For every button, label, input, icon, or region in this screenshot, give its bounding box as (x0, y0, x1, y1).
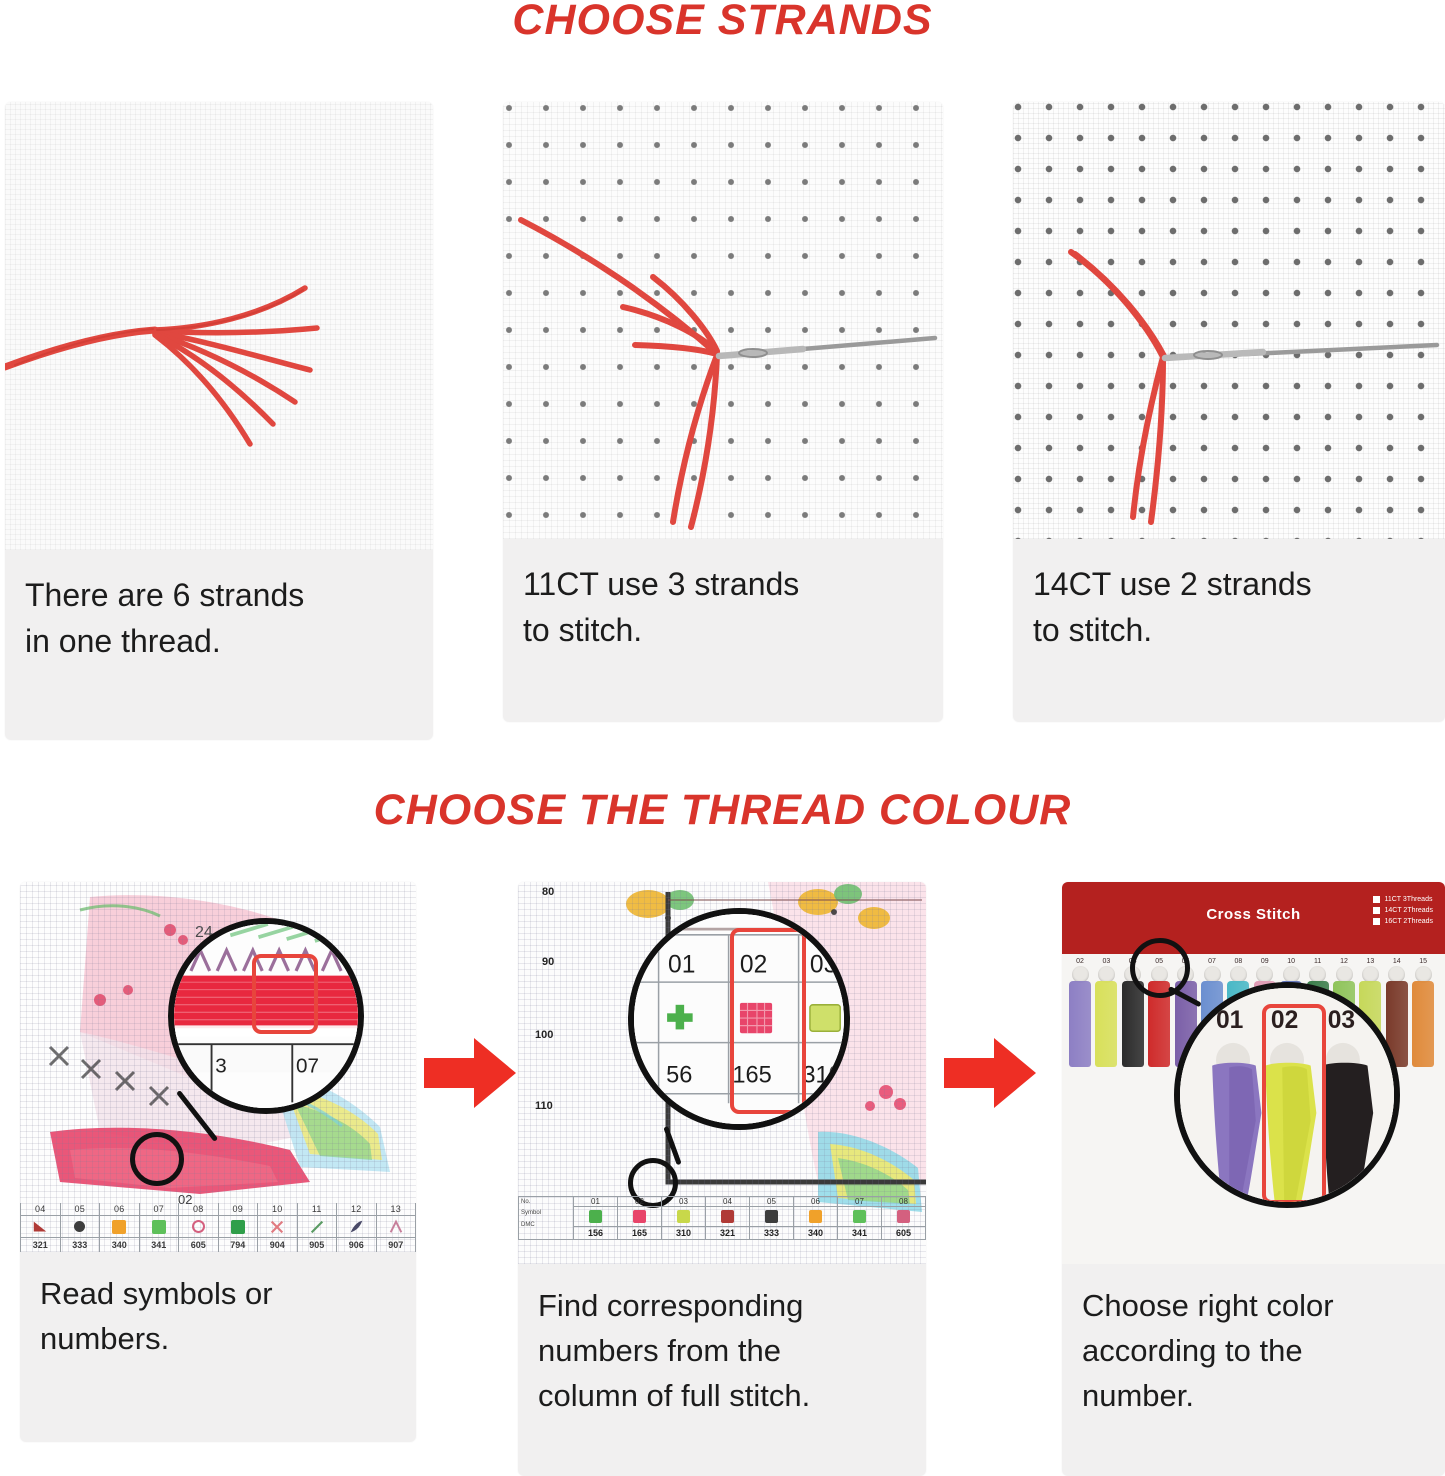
orange-square-icon (100, 1216, 139, 1238)
infographic-page: CHOOSE STRANDS (0, 0, 1445, 1476)
svg-text:07: 07 (296, 1054, 319, 1077)
caption-line: in one thread. (25, 618, 413, 664)
legend-row-header: No. (521, 1197, 573, 1208)
svg-text:03: 03 (1328, 1007, 1355, 1034)
skein-number: 12 (1332, 958, 1356, 965)
legend-thread-code: 907 (377, 1238, 416, 1252)
floss-skein: 15 (1411, 958, 1435, 1067)
thread-card-check-item: 11CT 3Threads (1373, 894, 1433, 905)
legend-symbol (882, 1207, 925, 1227)
skein-number: 15 (1411, 958, 1435, 965)
row-label: 80 (542, 886, 554, 898)
legend-thread-code: 340 (794, 1227, 837, 1239)
legend-thread-code: 794 (219, 1238, 258, 1252)
check-item-label: 16CT 2Threads (1384, 916, 1433, 927)
svg-text:01: 01 (668, 952, 695, 979)
legend-thread-code: 340 (100, 1238, 139, 1252)
needle-and-two-strands-illustration (1013, 102, 1445, 539)
legend-symbol (618, 1207, 661, 1227)
caption-line: numbers from the (538, 1329, 906, 1374)
legend-thread-code: 605 (882, 1227, 925, 1239)
caption-line: number. (1082, 1374, 1425, 1419)
floss-bundle (1122, 981, 1144, 1067)
legend-thread-code: 333 (750, 1227, 793, 1239)
legend-thread-code: 321 (706, 1227, 749, 1239)
legend-number: 05 (750, 1197, 793, 1207)
checkbox-icon (1373, 907, 1380, 914)
skein-number: 02 (1068, 958, 1092, 965)
skein-number: 03 (1094, 958, 1118, 965)
legend-column: 07341 (139, 1203, 179, 1252)
caption-line: 14CT use 2 strands (1033, 561, 1425, 607)
card-choose-color: Cross Stitch 11CT 3Threads14CT 2Threads1… (1062, 882, 1445, 1476)
photo-11ct (503, 102, 943, 539)
legend-column: 12906 (336, 1203, 376, 1252)
legend-row-headers: No.SymbolDMC (518, 1196, 574, 1240)
skein-number: 07 (1200, 958, 1224, 965)
magnifier-target-circle (1130, 938, 1190, 998)
legend-thread-code: 904 (258, 1238, 297, 1252)
legend-number: 08 (882, 1197, 925, 1207)
legend-column: 05333 (750, 1196, 794, 1240)
legend-number: 04 (706, 1197, 749, 1207)
floss-bundle (1069, 981, 1091, 1067)
legend-number: 12 (337, 1203, 376, 1216)
x-cross-icon (258, 1216, 297, 1238)
green-square-icon (140, 1216, 179, 1238)
legend-number: 13 (377, 1203, 416, 1216)
legend-symbol (574, 1207, 617, 1227)
legend-column: 08605 (178, 1203, 218, 1252)
arrow-right-icon-2 (944, 1036, 1036, 1110)
magnifier-circle-legend: 01 02 03 56 165 310 (628, 908, 850, 1130)
legend-number: 07 (838, 1197, 881, 1207)
legend-symbol (838, 1207, 881, 1227)
checkbox-icon (1373, 918, 1380, 925)
magnifier-target-circle (130, 1132, 184, 1186)
photo-chart-legend: 80 90 100 110 01 02 03 (518, 882, 926, 1264)
red-highlight-box (730, 928, 806, 1114)
legend-column: 03310 (662, 1196, 706, 1240)
legend-column: 04321 (706, 1196, 750, 1240)
legend-number: 06 (794, 1197, 837, 1207)
caption-line: Find corresponding (538, 1284, 906, 1329)
legend-row-header: Symbol (521, 1208, 573, 1219)
caption-line: 11CT use 3 strands (523, 561, 923, 607)
legend-symbol (794, 1207, 837, 1227)
caption-line: column of full stitch. (538, 1374, 906, 1419)
legend-thread-code: 905 (298, 1238, 337, 1252)
legend-number: 08 (179, 1203, 218, 1216)
legend-row-header: DMC (521, 1220, 573, 1231)
caption-line: numbers. (40, 1317, 396, 1362)
pattern-legend-table: 0432105333063400734108605097941090411905… (20, 1203, 416, 1252)
caption-read-symbols: Read symbols or numbers. (20, 1252, 416, 1372)
dark-green-square-icon (219, 1216, 258, 1238)
caption-line: to stitch. (1033, 607, 1425, 653)
floss-skein: 02 (1068, 958, 1092, 1067)
legend-thread-code: 906 (337, 1238, 376, 1252)
caption-line: Read symbols or (40, 1272, 396, 1317)
svg-text:3: 3 (215, 1054, 226, 1077)
legend-thread-code: 321 (21, 1238, 60, 1252)
thread-card-checklist: 11CT 3Threads14CT 2Threads16CT 2Threads (1373, 894, 1433, 928)
caption-line: according to the (1082, 1329, 1425, 1374)
photo-pattern-chart: 24 02 (20, 882, 416, 1252)
magnifier-circle-threads: 01 02 03 (1174, 982, 1400, 1208)
card-read-symbols: 24 02 (20, 882, 416, 1442)
open-circle-icon (179, 1216, 218, 1238)
skein-number: 14 (1385, 958, 1409, 965)
row-label: 100 (535, 1029, 553, 1041)
legend-column: 09794 (218, 1203, 258, 1252)
legend-column: 05333 (60, 1203, 100, 1252)
legend-thread-code: 165 (618, 1227, 661, 1239)
legend-number: 10 (258, 1203, 297, 1216)
legend-column: 08605 (882, 1196, 926, 1240)
caption-six-strands: There are 6 strands in one thread. (5, 550, 433, 675)
floss-skein: 03 (1094, 958, 1118, 1067)
legend-number: 02 (618, 1197, 661, 1207)
skein-number: 11 (1306, 958, 1330, 965)
legend-number: 07 (140, 1203, 179, 1216)
legend-column: 10904 (257, 1203, 297, 1252)
legend-thread-code: 341 (140, 1238, 179, 1252)
six-strand-thread-illustration (5, 102, 433, 550)
magnifier-circle-pattern: 3 07 (168, 918, 364, 1114)
legend-symbol (750, 1207, 793, 1227)
legend-number: 05 (61, 1203, 100, 1216)
legend-number: 11 (298, 1203, 337, 1216)
legend-thread-code: 341 (838, 1227, 881, 1239)
svg-text:56: 56 (666, 1062, 692, 1088)
caption-find-numbers: Find corresponding numbers from the colu… (518, 1264, 926, 1429)
photo-14ct (1013, 102, 1445, 539)
legend-symbol (706, 1207, 749, 1227)
legend-number: 09 (219, 1203, 258, 1216)
skein-number: 10 (1279, 958, 1303, 965)
card-14ct-two-strands: 14CT use 2 strands to stitch. (1013, 102, 1445, 722)
row-label: 110 (535, 1100, 553, 1112)
legend-symbol (662, 1207, 705, 1227)
checkbox-icon (1373, 896, 1380, 903)
legend-column: 01156 (574, 1196, 618, 1240)
floss-bundle (1412, 981, 1434, 1067)
legend-thread-code: 156 (574, 1227, 617, 1239)
svg-text:310: 310 (802, 1062, 841, 1088)
red-highlight-box (252, 954, 318, 1034)
legend-thread-code: 605 (179, 1238, 218, 1252)
legend-number: 04 (21, 1203, 60, 1216)
caption-choose-color: Choose right color according to the numb… (1062, 1264, 1445, 1429)
feather-icon (337, 1216, 376, 1238)
card-11ct-three-strands: 11CT use 3 strands to stitch. (503, 102, 943, 722)
photo-thread-card: Cross Stitch 11CT 3Threads14CT 2Threads1… (1062, 882, 1445, 1264)
card-find-numbers: 80 90 100 110 01 02 03 (518, 882, 926, 1476)
legend-column: 02165 (618, 1196, 662, 1240)
legend-column: 04321 (20, 1203, 60, 1252)
svg-text:01: 01 (1216, 1007, 1243, 1034)
card-six-strands: There are 6 strands in one thread. (5, 102, 433, 740)
chart-legend-strip: No.SymbolDMC0115602165033100432105333063… (518, 1196, 926, 1240)
skein-number: 08 (1226, 958, 1250, 965)
arrow-right-icon-1 (424, 1036, 516, 1110)
section-title-choose-thread-colour: CHOOSE THE THREAD COLOUR (0, 786, 1445, 835)
photo-six-strands (5, 102, 433, 550)
legend-thread-code: 333 (61, 1238, 100, 1252)
skein-number: 13 (1358, 958, 1382, 965)
floss-bundle (1095, 981, 1117, 1067)
triangle-flag-icon (21, 1216, 60, 1238)
caption-line: There are 6 strands (25, 572, 413, 618)
svg-text:03: 03 (810, 952, 837, 979)
check-item-label: 14CT 2Threads (1384, 905, 1433, 916)
legend-number: 03 (662, 1197, 705, 1207)
legend-number: 06 (100, 1203, 139, 1216)
row-label: 90 (542, 956, 554, 968)
needle-and-three-strands-illustration (503, 102, 943, 539)
needle-icon (719, 338, 935, 357)
caption-line: to stitch. (523, 607, 923, 653)
section-title-choose-strands: CHOOSE STRANDS (0, 0, 1445, 45)
legend-number: 01 (574, 1197, 617, 1207)
legend-column: 06340 (99, 1203, 139, 1252)
legend-thread-code: 310 (662, 1227, 705, 1239)
caption-14ct: 14CT use 2 strands to stitch. (1013, 539, 1445, 664)
dot-hex-icon (61, 1216, 100, 1238)
red-highlight-box (1262, 1004, 1326, 1204)
legend-column: 07341 (838, 1196, 882, 1240)
check-item-label: 11CT 3Threads (1384, 894, 1432, 905)
legend-column: 13907 (376, 1203, 417, 1252)
diagonal-slash-icon (298, 1216, 337, 1238)
legend-column: 06340 (794, 1196, 838, 1240)
legend-column: 11905 (297, 1203, 337, 1252)
thread-card-check-item: 16CT 2Threads (1373, 916, 1433, 927)
caret-up-icon (377, 1216, 416, 1238)
skein-number: 09 (1253, 958, 1277, 965)
needle-icon (1165, 345, 1437, 359)
caption-line: Choose right color (1082, 1284, 1425, 1329)
caption-11ct: 11CT use 3 strands to stitch. (503, 539, 943, 664)
thread-card-check-item: 14CT 2Threads (1373, 905, 1433, 916)
